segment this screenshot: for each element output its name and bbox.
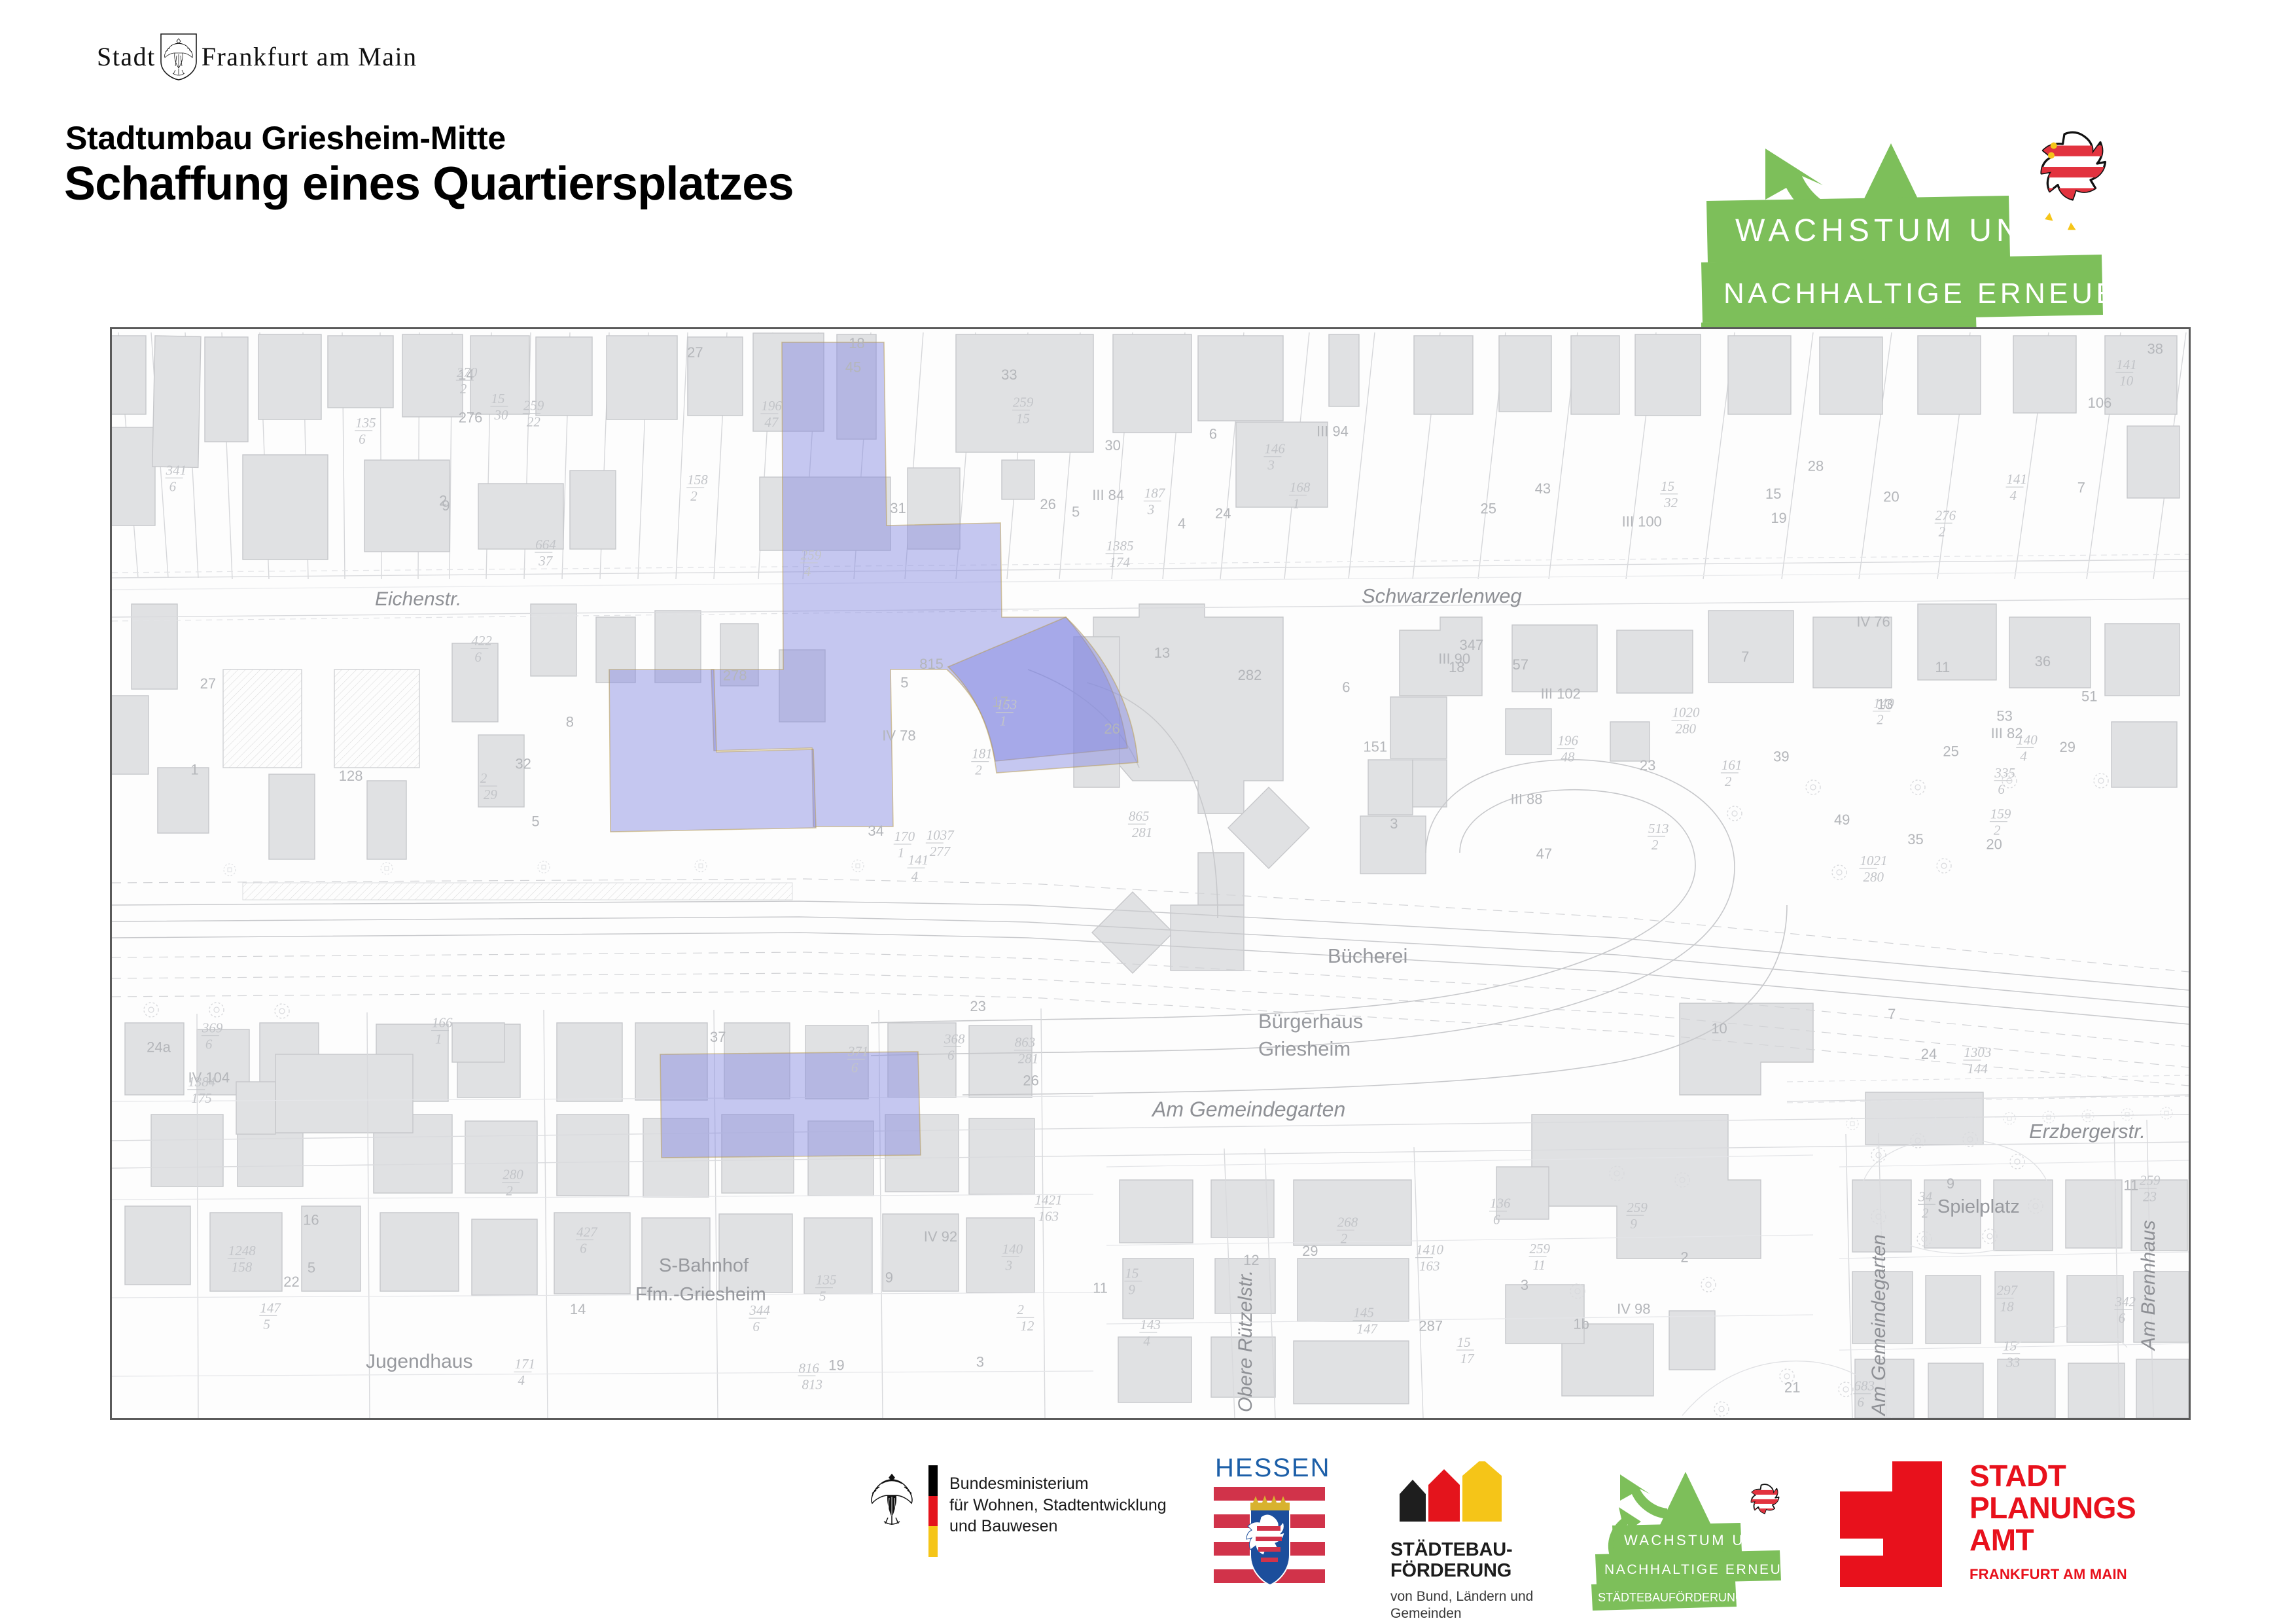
parcel-number: 33: [1001, 366, 1017, 383]
parcel-number-numerator: 259: [523, 398, 544, 414]
parcel-number-denominator: 11: [1533, 1257, 1545, 1273]
parcel-number-numerator: 369: [202, 1020, 223, 1036]
footer-logos: Bundesministerium für Wohnen, Stadtentwi…: [0, 1450, 2296, 1623]
program-band-2: NACHHALTIGE ERNEUERUNG: [1723, 277, 2218, 310]
parcel-number-denominator: 32: [1663, 495, 1678, 510]
parcel-number-numerator: 168: [1290, 480, 1311, 495]
parcel-number-denominator: 2: [690, 488, 698, 504]
stadtplanungsamt-mark-icon: [1839, 1460, 1943, 1588]
wachstum-band-3: STÄDTEBAUFÖRDERUNG HESSEN: [1598, 1591, 1796, 1604]
parcel-number-denominator: 15: [1016, 411, 1030, 427]
parcel-number-denominator: 6: [1493, 1212, 1500, 1228]
parcel-number: IV 98: [1617, 1300, 1650, 1317]
parcel-number: 128: [339, 768, 363, 784]
parcel-number-numerator: 15: [2003, 1338, 2017, 1354]
parcel-number: 816813: [798, 1360, 822, 1392]
parcel-number: 19: [828, 1357, 844, 1374]
parcel-number: 1: [190, 761, 198, 777]
parcel-number-numerator: 159: [1990, 806, 2011, 822]
parcel-number-denominator: 2: [1877, 712, 1884, 728]
parcel-number: 7: [1741, 649, 1749, 665]
parcel-number: 29: [2060, 739, 2075, 755]
parcel-number-denominator: 2: [506, 1183, 513, 1198]
parcel-number-numerator: 34: [1918, 1188, 1933, 1204]
parcel-number: 13: [1154, 645, 1170, 661]
parcel-number: 347: [1460, 637, 1484, 653]
parcel-number: 47: [1536, 846, 1552, 862]
parcel-number-denominator: 6: [752, 1319, 760, 1334]
spa-sub: FRANKFURT AM MAIN: [1969, 1566, 2136, 1583]
parcel-number-numerator: 158: [687, 472, 708, 488]
parcel-number-denominator: 158: [232, 1259, 253, 1275]
parcel-number: 28: [1808, 458, 1824, 474]
stadtplanungsamt-logo: STADT PLANUNGS AMT FRANKFURT AM MAIN: [1839, 1460, 2136, 1588]
parcel-number: 27: [200, 675, 216, 692]
parcel-number: 1421163: [1034, 1192, 1063, 1224]
staedtebau-sub-1: von Bund, Ländern und: [1390, 1588, 1533, 1605]
parcel-number-denominator: 6: [474, 649, 482, 665]
hessen-flag-icon: [1214, 1487, 1325, 1592]
parcel-number: 1021280: [1860, 853, 1888, 885]
parcel-number: 24: [1215, 505, 1231, 522]
parcel-number-numerator: 141: [2116, 357, 2137, 372]
parcel-number-denominator: 174: [1110, 554, 1131, 570]
parcel-number: 23: [1640, 757, 1655, 774]
parcel-number-denominator: 2: [1922, 1205, 1929, 1221]
city-logo-word-stadt: Stadt: [97, 44, 156, 70]
place-label: Griesheim: [1258, 1037, 1351, 1060]
parcel-number-denominator: 6: [169, 478, 177, 494]
parcel-number: 31: [890, 500, 906, 516]
spa-line-2: PLANUNGS: [1969, 1492, 2136, 1524]
parcel-number-numerator: 141: [908, 852, 929, 868]
parcel-number-numerator: 297: [1997, 1283, 2019, 1298]
parcel-number-numerator: 341: [166, 462, 187, 478]
parcel-number: 27: [687, 344, 703, 361]
parcel-number-numerator: 166: [432, 1015, 453, 1031]
parcel-number: 53: [1996, 707, 2012, 724]
street-label: Eichenstr.: [375, 588, 461, 610]
parcel-number-denominator: 2: [975, 762, 982, 778]
parcel-number-denominator: 280: [1863, 869, 1884, 885]
parcel-number-denominator: 10: [2119, 373, 2134, 389]
parcel-number: 287: [1419, 1318, 1443, 1334]
parcel-number-denominator: 5: [263, 1316, 270, 1332]
parcel-number-denominator: 2: [1651, 837, 1659, 853]
parcel-number-denominator: 163: [1419, 1258, 1440, 1274]
parcel-number: 25: [1943, 743, 1958, 759]
parcel-number-numerator: 276: [1935, 507, 1956, 523]
bmwsb-logo: Bundesministerium für Wohnen, Stadtentwi…: [867, 1465, 1167, 1557]
place-label: Jugendhaus: [366, 1351, 472, 1372]
parcel-number-denominator: 5: [819, 1289, 826, 1304]
parcel-number-numerator: 371: [847, 1043, 869, 1059]
parcel-number: IV 76: [1856, 614, 1890, 630]
parcel-number: 6: [1342, 679, 1350, 695]
parcel-number-numerator: 259: [1530, 1241, 1551, 1257]
parcel-number-denominator: 2: [1939, 524, 1946, 539]
parcel-number-denominator: 1: [435, 1031, 442, 1047]
parcel-number: 24a: [147, 1039, 171, 1055]
parcel-number: 2: [1680, 1249, 1688, 1265]
parcel-number-denominator: 9: [1128, 1282, 1135, 1298]
map-canvas: Eichenstr.SchwarzerlenwegAm Gemeindegart…: [112, 329, 2189, 1418]
parcel-number-denominator: 4: [1143, 1333, 1150, 1349]
parcel-number-denominator: 6: [1857, 1395, 1864, 1410]
hessen-logo: HESSEN: [1214, 1454, 1331, 1595]
parcel-number-numerator: 15: [1457, 1334, 1471, 1350]
spa-line-3: AMT: [1969, 1524, 2136, 1556]
parcel-number-denominator: 3: [1267, 457, 1275, 473]
program-band-1: WACHSTUM UND: [1735, 213, 2051, 248]
parcel-number: 24: [1921, 1046, 1937, 1062]
parcel-number-numerator: 280: [503, 1166, 523, 1182]
parcel-number-numerator: 259: [1627, 1200, 1648, 1215]
place-label: Bücherei: [1328, 944, 1407, 967]
parcel-number: 13: [1877, 696, 1893, 713]
german-flag-bar-icon: [928, 1465, 938, 1557]
street-label: Am Brennhaus: [2138, 1221, 2159, 1351]
parcel-number-numerator: 161: [1722, 757, 1742, 773]
parcel-number: 278: [723, 668, 747, 684]
parcel-number: III 84: [1092, 487, 1124, 503]
parcel-number-numerator: 143: [1140, 1317, 1161, 1332]
parcel-number-denominator: 2: [1725, 774, 1732, 789]
parcel-number: 45: [845, 359, 861, 376]
parcel-number-numerator: 140: [1002, 1241, 1023, 1257]
parcel-number-numerator: 140: [2017, 732, 2038, 747]
parcel-number-denominator: 6: [947, 1047, 955, 1063]
parcel-number-denominator: 277: [930, 844, 951, 859]
parcel-number-numerator: 664: [535, 537, 556, 552]
parcel-number: 29: [1302, 1243, 1318, 1259]
bmwsb-line-1: Bundesministerium: [949, 1473, 1167, 1495]
parcel-number: 865281: [1128, 808, 1153, 840]
parcel-number: 11: [1935, 659, 1950, 675]
parcel-number: 1303144: [1963, 1044, 1991, 1077]
wachstum-band-2: NACHHALTIGE ERNEUERUNG: [1604, 1562, 1819, 1577]
parcel-number: 5: [308, 1259, 315, 1275]
parcel-number: 26: [1040, 496, 1055, 512]
parcel-number: 14: [570, 1301, 586, 1317]
parcel-number: 1020280: [1672, 704, 1701, 736]
parcel-number-numerator: 136: [1490, 1196, 1511, 1211]
parcel-number-denominator: 6: [359, 431, 366, 447]
bundesadler-icon: [867, 1465, 917, 1528]
parcel-number-numerator: 344: [749, 1302, 770, 1318]
parcel-number-denominator: 30: [493, 407, 508, 423]
parcel-number-numerator: 2: [480, 770, 487, 786]
parcel-number-numerator: 816: [798, 1360, 819, 1376]
parcel-number-denominator: 6: [2118, 1310, 2125, 1326]
city-logo-word-frankfurt: Frankfurt am Main: [202, 44, 417, 70]
street-label: Erzbergerstr.: [2029, 1120, 2146, 1143]
parcel-number: 15: [1765, 486, 1781, 502]
parcel-number: 2: [439, 492, 447, 508]
street-label: Schwarzerlenweg: [1362, 584, 1522, 607]
bmwsb-line-3: und Bauwesen: [949, 1516, 1167, 1537]
parcel-number-denominator: 18: [2000, 1299, 2015, 1315]
parcel-number: 5: [900, 675, 908, 691]
place-label: Spielplatz: [1937, 1196, 2020, 1217]
parcel-number: 1b: [1573, 1315, 1589, 1332]
parcel-number: 38: [2147, 341, 2163, 357]
parcel-number-numerator: 1421: [1035, 1192, 1063, 1207]
parcel-number-numerator: 335: [1994, 765, 2015, 781]
parcel-number: 30: [1104, 437, 1120, 454]
parcel-number-denominator: 3: [1147, 502, 1155, 518]
parcel-number: 18: [849, 335, 864, 351]
parcel-number: IV 92: [924, 1228, 957, 1245]
parcel-number-numerator: 1303: [1964, 1044, 1991, 1060]
parcel-number: 8: [566, 713, 574, 730]
parcel-number: 12: [1243, 1252, 1259, 1268]
parcel-number: 4: [1178, 516, 1186, 532]
parcel-number-numerator: 422: [471, 633, 492, 649]
page-subtitle: Stadtumbau Griesheim-Mitte: [65, 119, 506, 157]
wachstum-band-1: WACHSTUM UND: [1624, 1532, 1770, 1548]
parcel-number: 26: [1023, 1072, 1038, 1088]
parcel-number: 51: [2081, 688, 2097, 704]
parcel-number: 5: [531, 813, 539, 830]
parcel-number-denominator: 6: [851, 1060, 858, 1075]
parcel-number-numerator: 427: [576, 1224, 598, 1240]
parcel-number: 1410163: [1415, 1242, 1444, 1274]
parcel-number: 21: [1784, 1380, 1800, 1396]
parcel-number: 815: [919, 656, 944, 672]
parcel-number-denominator: 4: [2010, 488, 2017, 503]
parcel-number-numerator: 259: [801, 547, 822, 563]
parcel-number: 43: [1535, 480, 1551, 497]
parcel-number: IV 78: [882, 728, 915, 744]
parcel-number: III 100: [1622, 514, 1662, 530]
parcel-number-denominator: 4: [518, 1372, 525, 1388]
parcel-number: 35: [1907, 831, 1923, 847]
parcel-number-denominator: 6: [1998, 781, 2005, 797]
parcel-number: 106: [2088, 395, 2112, 411]
street-label: Obere Rützelstr.: [1235, 1270, 1256, 1412]
parcel-number-denominator: 281: [1018, 1051, 1039, 1067]
parcel-number: 7: [1888, 1006, 1896, 1022]
place-label: Ffm.-Griesheim: [635, 1284, 766, 1305]
parcel-number-denominator: 37: [538, 553, 554, 569]
parcel-number: 17: [993, 694, 1008, 710]
parcel-number-denominator: 144: [1967, 1061, 1988, 1077]
parcel-number-numerator: 187: [1144, 486, 1166, 501]
parcel-number: 19: [1771, 510, 1786, 526]
staedtebau-title-1: STÄDTEBAU-: [1390, 1539, 1533, 1560]
parcel-number-denominator: 4: [2020, 748, 2027, 764]
parcel-number: 9: [885, 1270, 893, 1286]
parcel-number-denominator: 4: [911, 868, 919, 884]
parcel-number: 3: [976, 1354, 984, 1370]
parcel-number-denominator: 12: [1020, 1318, 1034, 1334]
parcel-number-denominator: 9: [1630, 1216, 1637, 1232]
parcel-number-numerator: 270: [457, 365, 478, 380]
parcel-number-numerator: 1248: [228, 1243, 256, 1258]
parcel-number-numerator: 15: [491, 391, 504, 406]
parcel-number-denominator: 4: [804, 563, 811, 579]
parcel-number: 18: [1449, 659, 1464, 675]
parcel-number-numerator: 145: [1353, 1305, 1374, 1321]
parcel-number-denominator: 33: [2005, 1355, 2020, 1370]
parcel-number-numerator: 259: [2140, 1173, 2161, 1188]
parcel-number: 6: [1209, 425, 1217, 442]
parcel-number: 151: [1363, 739, 1387, 755]
parcel-number-denominator: 1: [1000, 713, 1007, 729]
parcel-number-denominator: 281: [1132, 825, 1153, 840]
parcel-number: 16: [303, 1211, 319, 1228]
parcel-number-numerator: 1020: [1672, 704, 1701, 720]
parcel-number-numerator: 196: [1557, 733, 1578, 749]
parcel-number-numerator: 342: [2114, 1294, 2136, 1310]
hessen-lion-icon: [1747, 1484, 1790, 1522]
parcel-number-numerator: 1384: [188, 1074, 216, 1090]
parcel-number: 23: [970, 998, 985, 1014]
spa-line-1: STADT: [1969, 1460, 2136, 1492]
parcel-number: 11: [1093, 1280, 1108, 1296]
parcel-number: 3: [1390, 815, 1398, 832]
parcel-number: 5: [1072, 503, 1080, 520]
parcel-number-denominator: 22: [527, 414, 541, 430]
parcel-number: 57: [1512, 656, 1528, 673]
parcel-number-denominator: 175: [191, 1090, 212, 1106]
parcel-number-numerator: 15: [1125, 1266, 1139, 1281]
parcel-number: 1248158: [228, 1243, 256, 1275]
parcel-number-denominator: 17: [1460, 1351, 1475, 1366]
parcel-number: 20: [1883, 488, 1899, 505]
parcel-number: 282: [1238, 667, 1262, 683]
parcel-number-denominator: 48: [1561, 749, 1575, 765]
parcel-number-denominator: 23: [2143, 1189, 2157, 1205]
parcel-number-numerator: 181: [972, 746, 993, 762]
parcel-number: 276: [459, 410, 483, 426]
parcel-number-denominator: 2: [460, 381, 467, 397]
parcel-number: 1384175: [187, 1074, 216, 1106]
parcel-number: III 94: [1316, 423, 1349, 440]
parcel-number-numerator: 196: [761, 398, 782, 414]
parcel-number: 863281: [1014, 1035, 1039, 1067]
parcel-number: 20: [1986, 836, 2002, 853]
parcel-number-numerator: 15: [1661, 478, 1674, 494]
bmwsb-line-2: für Wohnen, Stadtentwicklung: [949, 1495, 1167, 1516]
parcel-number-denominator: 1: [1293, 496, 1300, 512]
parcel-number: 25: [1480, 500, 1496, 516]
staedtebau-sub-2: Gemeinden: [1390, 1605, 1533, 1622]
parcel-number: III 102: [1541, 685, 1581, 702]
place-label: Bürgerhaus: [1258, 1010, 1363, 1033]
parcel-number-denominator: 163: [1038, 1208, 1059, 1224]
parcel-number-numerator: 1385: [1106, 538, 1134, 554]
parcel-number-numerator: 863: [1015, 1035, 1036, 1050]
hessen-wordmark: HESSEN: [1215, 1454, 1331, 1483]
parcel-number-numerator: 171: [514, 1356, 535, 1372]
parcel-number-numerator: 513: [1648, 821, 1669, 836]
parcel-number: 1385174: [1106, 538, 1134, 570]
parcel-number-denominator: 29: [484, 787, 498, 802]
parcel-number-denominator: 813: [802, 1376, 822, 1392]
parcel-number-numerator: 259: [1013, 395, 1034, 410]
parcel-number: 9: [1947, 1175, 1954, 1192]
parcel-number: 49: [1834, 811, 1850, 828]
parcel-number: 10: [1711, 1020, 1727, 1037]
parcel-number-numerator: 1021: [1860, 853, 1888, 868]
parcel-number: 3: [1521, 1277, 1528, 1293]
parcel-number: 39: [1773, 749, 1789, 765]
wachstum-logo-small: WACHSTUM UND NACHHALTIGE ERNEUERUNG STÄD…: [1590, 1460, 1819, 1614]
parcel-number: 7: [2077, 479, 2085, 495]
frankfurt-eagle-crest-icon: [160, 33, 198, 81]
street-label: Am Gemeindegarten: [1151, 1097, 1345, 1121]
parcel-number: 11: [2123, 1177, 2138, 1194]
parcel-number-denominator: 2: [1341, 1231, 1348, 1247]
parcel-number: 36: [2035, 653, 2051, 669]
staedtebau-title-2: FÖRDERUNG: [1390, 1560, 1533, 1581]
city-logo: Stadt Frankfurt am Main: [97, 33, 417, 81]
cadastral-map[interactable]: Eichenstr.SchwarzerlenwegAm Gemeindegart…: [110, 327, 2191, 1420]
parcel-number-numerator: 1410: [1416, 1242, 1444, 1258]
page-title: Schaffung eines Quartiersplatzes: [64, 157, 794, 211]
parcel-number-numerator: 135: [355, 415, 376, 431]
parcel-number-denominator: 47: [764, 414, 779, 430]
parcel-number: 37: [710, 1029, 726, 1045]
parcel-number-numerator: 268: [1337, 1215, 1358, 1230]
parcel-number-denominator: 3: [1005, 1257, 1013, 1273]
staedtebaufoerderung-logo: STÄDTEBAU- FÖRDERUNG von Bund, Ländern u…: [1390, 1461, 1533, 1622]
parcel-number: 34: [868, 823, 883, 839]
parcel-number-denominator: 6: [580, 1241, 587, 1257]
parcel-number-numerator: 146: [1264, 441, 1285, 457]
parcel-number-numerator: 865: [1129, 808, 1150, 824]
parcel-number-numerator: 2: [1017, 1302, 1024, 1317]
three-houses-icon: [1390, 1461, 1521, 1527]
parcel-number-numerator: 135: [816, 1272, 837, 1288]
parcel-number-numerator: 683: [1854, 1378, 1875, 1394]
parcel-number-numerator: 368: [944, 1031, 965, 1046]
parcel-number-denominator: 6: [205, 1037, 213, 1052]
parcel-number-denominator: 280: [1676, 721, 1697, 736]
parcel-number-numerator: 141: [2007, 471, 2028, 487]
parcel-number: 22: [283, 1274, 299, 1290]
parcel-number: III 88: [1511, 791, 1543, 808]
parcel-number-numerator: 1037: [927, 827, 955, 843]
parcel-number-numerator: 170: [894, 829, 915, 844]
place-label: S-Bahnhof: [659, 1255, 749, 1276]
parcel-number-numerator: 147: [260, 1300, 281, 1315]
parcel-number: 26: [1104, 721, 1120, 737]
parcel-number: 32: [515, 755, 531, 772]
parcel-number-denominator: 147: [1356, 1321, 1378, 1337]
parcel-number-denominator: 1: [898, 845, 905, 861]
